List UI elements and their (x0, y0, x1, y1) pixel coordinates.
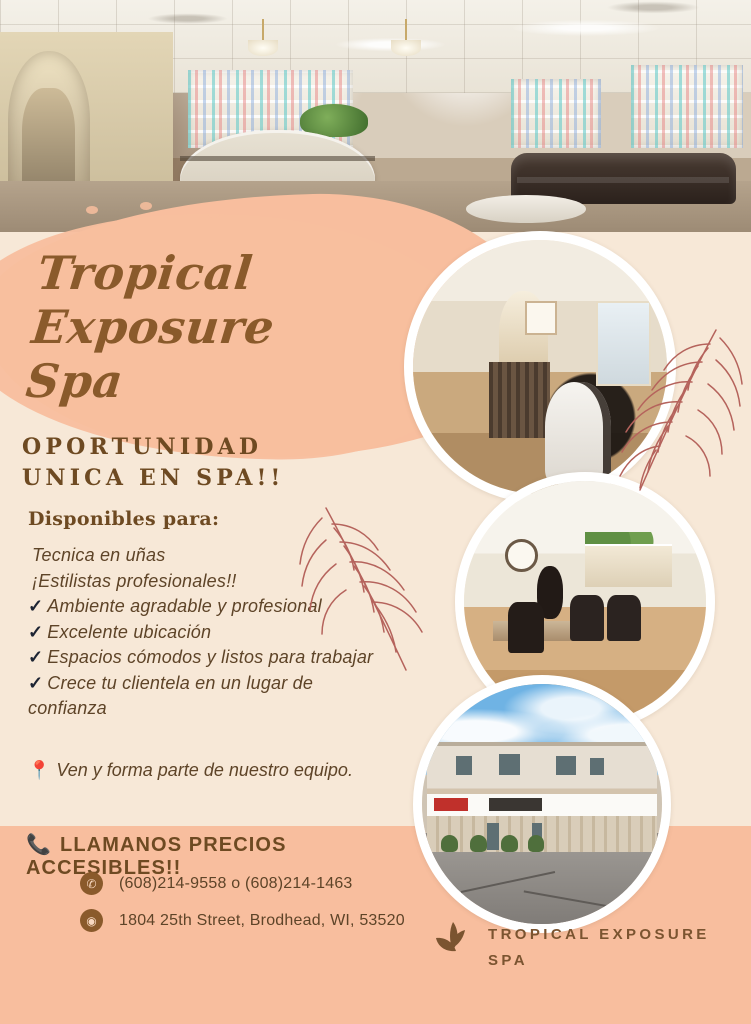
contact-phone-text: (608)214-9558 o (608)214-1463 (119, 875, 353, 893)
storefront-sign-text (489, 798, 542, 811)
contact-address-text: 1804 25th Street, Brodhead, WI, 53520 (119, 912, 405, 930)
product-shelf-c (631, 65, 744, 149)
window-detail (590, 758, 604, 775)
pendant-lamp-1 (248, 19, 278, 56)
headline-line-1: OPORTUNIDAD (22, 432, 442, 463)
list-item: ✓Espacios cómodos y listos para trabajar (28, 645, 376, 671)
section-subhead: Disponibles para: (28, 508, 219, 530)
brand-script-logo: Tropical Exposure Spa (23, 246, 370, 408)
check-icon: ✓ (28, 622, 43, 642)
footer-brand-line-1: TROPICAL EXPOSURE (488, 922, 710, 948)
list-item-text: ¡Estilistas profesionales!! (32, 571, 236, 591)
list-item-text: Excelente ubicación (47, 622, 211, 642)
check-icon: ✓ (28, 673, 43, 693)
bush-detail (501, 835, 518, 852)
pendant-lamp-2 (391, 19, 421, 56)
brand-script-line-2: Exposure (29, 300, 365, 354)
bush-detail (470, 835, 487, 852)
flyer-canvas: Tropical Exposure Spa OPORTUNIDAD UNICA … (0, 0, 751, 1024)
brand-script-line-1: Tropical (35, 246, 371, 300)
brand-script-line-3: Spa (23, 354, 359, 408)
footer-brand-logo: TROPICAL EXPOSURE SPA (432, 918, 710, 974)
door-detail (487, 823, 499, 849)
list-item: ✓Crece tu clientela en un lugar de confi… (28, 671, 376, 722)
archway-detail (8, 51, 91, 195)
banner-photo-salon-reception (0, 0, 751, 232)
headline: OPORTUNIDAD UNICA EN SPA!! (22, 432, 442, 494)
salon-chair-c (607, 595, 641, 641)
pushpin-icon: 📍 (28, 760, 50, 780)
bottles-b (511, 79, 601, 149)
circle-photo-building-exterior (413, 675, 671, 933)
list-item: ✓Excelente ubicación (28, 620, 376, 646)
window-detail (456, 756, 473, 775)
parking-lot-detail (422, 852, 662, 924)
bottles-c (631, 65, 744, 149)
product-shelf-b (511, 79, 601, 149)
list-item-text: Tecnica en uñas (32, 545, 165, 565)
list-item-text: Espacios cómodos y listos para trabajar (47, 647, 373, 667)
phone-icon: ✆ (80, 872, 103, 895)
window-detail (499, 754, 521, 776)
window-detail (556, 756, 575, 775)
location-pin-icon: ◉ (80, 909, 103, 932)
styling-station-image (413, 240, 667, 494)
list-item-text: Crece tu clientela en un lugar de confia… (28, 673, 313, 719)
building-exterior-image (422, 684, 662, 924)
brush-speck-1 (86, 206, 98, 214)
bush-detail (528, 835, 545, 852)
contact-block: ✆ (608)214-9558 o (608)214-1463 ◉ 1804 2… (80, 872, 460, 946)
wall-frame-detail (525, 301, 557, 335)
contact-row-phone[interactable]: ✆ (608)214-9558 o (608)214-1463 (80, 872, 460, 895)
list-item: ✓Ambiente agradable y profesional (28, 594, 376, 620)
wall-clock-detail (505, 539, 538, 572)
headline-line-2: UNICA EN SPA!! (22, 463, 442, 494)
styling-chair-detail (545, 382, 611, 484)
coffee-table (466, 195, 586, 223)
check-icon: ✓ (28, 596, 43, 616)
bush-detail (441, 835, 458, 852)
phone-handset-icon: 📞 (26, 834, 52, 856)
coat-rack-detail (489, 362, 550, 438)
circle-photo-styling-station (404, 231, 676, 503)
mirror-detail (596, 301, 651, 386)
benefits-list: Tecnica en uñas ¡Estilistas profesionale… (28, 543, 376, 722)
cabinet-detail (585, 544, 672, 588)
footer-brand-line-2: SPA (488, 948, 710, 974)
leaf-icon (432, 918, 474, 960)
contact-row-address[interactable]: ◉ 1804 25th Street, Brodhead, WI, 53520 (80, 909, 460, 932)
brush-speck-2 (140, 202, 152, 210)
storefront-sign-red (434, 798, 468, 811)
brush-speck-3 (208, 210, 220, 218)
list-item-text: Ambiente agradable y profesional (47, 596, 322, 616)
salon-chair-a (508, 602, 544, 653)
banner-photo-image (0, 0, 751, 232)
list-item: ¡Estilistas profesionales!! (28, 569, 376, 595)
salon-chair-b (570, 595, 604, 641)
footer-brand-name: TROPICAL EXPOSURE SPA (488, 918, 710, 974)
list-item: Tecnica en uñas (28, 543, 376, 569)
check-icon: ✓ (28, 647, 43, 667)
closing-invite-text: Ven y forma parte de nuestro equipo. (56, 760, 353, 780)
closing-invite: 📍Ven y forma parte de nuestro equipo. (28, 757, 358, 783)
